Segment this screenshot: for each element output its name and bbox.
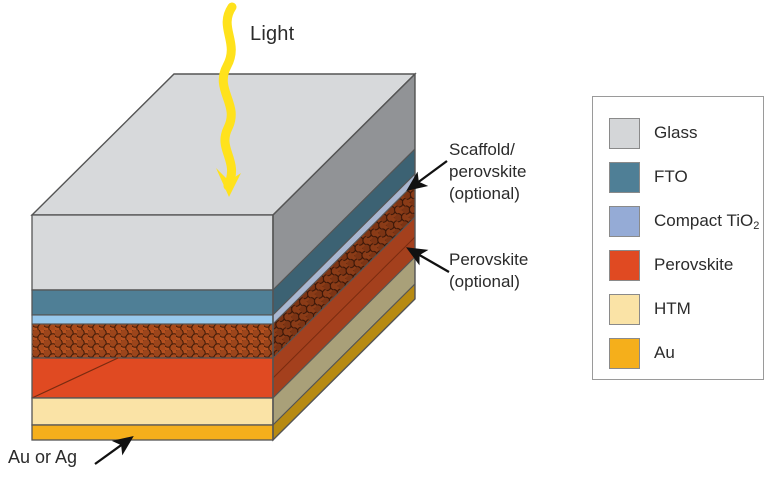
legend-label-au: Au: [654, 343, 675, 363]
legend-label-compact-tio2-sub: 2: [753, 220, 759, 232]
legend-item-htm: HTM: [609, 289, 763, 329]
perovskite-callout-line-1: Perovskite: [449, 249, 528, 271]
scaffold-callout-line-3: (optional): [449, 183, 526, 205]
legend-swatch-compact-tio2: [609, 206, 640, 237]
au-ag-arrow: [95, 438, 131, 464]
front-perovskite: [32, 358, 273, 398]
front-htm: [32, 398, 273, 425]
front-ctio2: [32, 315, 273, 324]
legend-swatch-glass: [609, 118, 640, 149]
perovskite-callout-label: Perovskite (optional): [449, 249, 528, 293]
front-au: [32, 425, 273, 440]
figure-canvas: Light Scaffold/ perovskite (optional) Pe…: [0, 0, 768, 481]
perovskite-callout-line-2: (optional): [449, 271, 528, 293]
legend-box: Glass FTO Compact TiO2 Perovskite HTM Au: [592, 96, 764, 380]
legend-item-fto: FTO: [609, 157, 763, 197]
legend-label-glass: Glass: [654, 123, 697, 143]
scaffold-callout-line-1: Scaffold/: [449, 139, 526, 161]
legend-label-perovskite: Perovskite: [654, 255, 733, 275]
legend-swatch-au: [609, 338, 640, 369]
front-scaffold: [32, 324, 273, 358]
legend-label-compact-tio2-text: Compact TiO: [654, 211, 753, 230]
legend-item-au: Au: [609, 333, 763, 373]
front-face: [32, 215, 273, 440]
legend-item-glass: Glass: [609, 113, 763, 153]
legend-label-compact-tio2: Compact TiO2: [654, 211, 759, 231]
legend-item-perovskite: Perovskite: [609, 245, 763, 285]
light-label: Light: [250, 23, 294, 46]
legend-swatch-htm: [609, 294, 640, 325]
legend-item-compact-tio2: Compact TiO2: [609, 201, 763, 241]
legend-swatch-fto: [609, 162, 640, 193]
au-or-ag-label: Au or Ag: [8, 447, 77, 468]
legend-list: Glass FTO Compact TiO2 Perovskite HTM Au: [593, 97, 763, 373]
scaffold-callout-line-2: perovskite: [449, 161, 526, 183]
front-glass: [32, 215, 273, 290]
legend-label-htm: HTM: [654, 299, 691, 319]
scaffold-callout-label: Scaffold/ perovskite (optional): [449, 139, 526, 204]
legend-swatch-perovskite: [609, 250, 640, 281]
legend-label-fto: FTO: [654, 167, 688, 187]
front-fto: [32, 290, 273, 315]
